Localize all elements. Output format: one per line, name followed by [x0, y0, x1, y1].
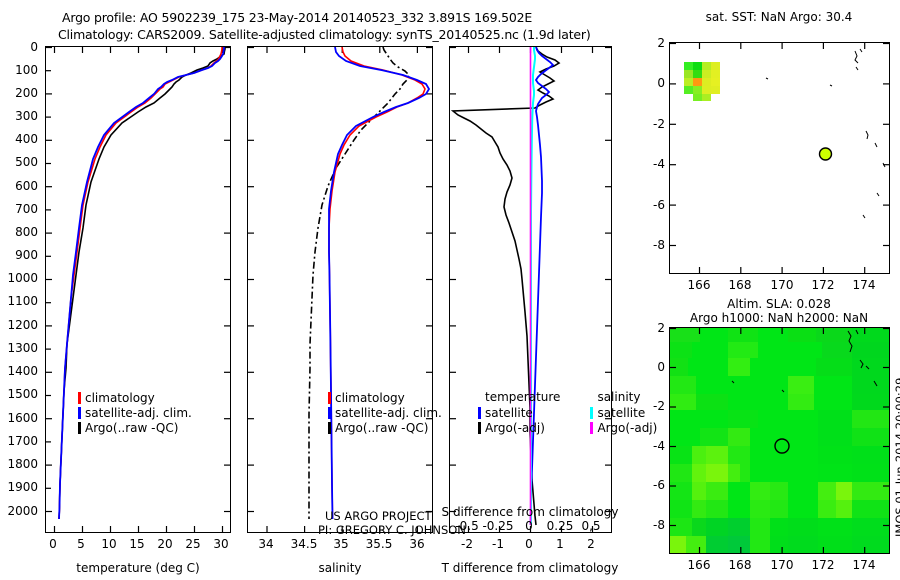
temp-xtick-20: 20 [157, 537, 172, 551]
temperature-axis-label: temperature (deg C) [76, 561, 199, 575]
legend-swatch-satellite-adj [78, 407, 81, 419]
temp-curve-satellite-adj [59, 47, 224, 519]
sla-ytick-neg4: -4 [639, 439, 665, 453]
tdiff-xtick-1: 1 [556, 537, 564, 551]
depth-tick-600: 600 [0, 179, 38, 193]
sst-ytick-neg8: -8 [639, 238, 665, 252]
temperature-plot-area [46, 47, 230, 532]
depth-tick-1000: 1000 [0, 271, 38, 285]
depth-tick-1900: 1900 [0, 480, 38, 494]
temp-xtick-15: 15 [129, 537, 144, 551]
legend-label-temp-argo: Argo(-adj) [485, 421, 545, 435]
sdiff-xtick-neg0_25: -0.25 [482, 519, 513, 533]
argo-position-marker [820, 148, 832, 160]
sst-ytick-2: 2 [645, 36, 665, 50]
depth-tick-1400: 1400 [0, 364, 38, 378]
sla-ytick-2: 2 [645, 321, 665, 335]
sdiff-xtick-0_25: 0.25 [547, 519, 574, 533]
legend-swatch-satellite-adj-sal [328, 407, 331, 419]
salinity-plot-area [248, 47, 432, 532]
sla-ytick-neg8: -8 [639, 518, 665, 532]
depth-tick-1600: 1600 [0, 411, 38, 425]
tdiff-xtick-0: 0 [525, 537, 533, 551]
sla-ytick-0: 0 [645, 360, 665, 374]
sla-map-area [670, 328, 889, 553]
sst-ytick-0: 0 [645, 76, 665, 90]
depth-tick-900: 900 [0, 248, 38, 262]
sla-field-pixels [670, 328, 889, 553]
salinity-xtick-35: 35 [333, 537, 348, 551]
sst-ytick-neg6: -6 [639, 198, 665, 212]
sla-xtick-174: 174 [853, 558, 876, 572]
legend-swatch-temp-argo [478, 422, 481, 434]
depth-tick-800: 800 [0, 225, 38, 239]
legend-label-satellite-adj-sal: satellite-adj. clim. [335, 406, 442, 420]
legend-item-argo-raw-sal: Argo(..raw -QC) [328, 420, 442, 435]
temperature-panel [45, 46, 231, 533]
legend-item-temp-argo: Argo(-adj) [478, 420, 560, 435]
sal-curve-satellite-adj [329, 47, 429, 519]
legend-item-climatology: climatology [78, 390, 192, 405]
sdiff-xtick-0: 0 [525, 519, 533, 533]
legend-swatch-temp-satellite [478, 407, 481, 419]
salinity-legend: climatology satellite-adj. clim. Argo(..… [328, 390, 442, 435]
sst-map-title: sat. SST: NaN Argo: 30.4 [706, 10, 853, 24]
legend-label-temp-satellite: satellite [485, 406, 533, 420]
legend-swatch-climatology [78, 392, 81, 404]
tdiff-axis-label: T difference from climatology [442, 561, 619, 575]
sst-xtick-174: 174 [853, 278, 876, 292]
salinity-xtick-34_5: 34.5 [291, 537, 318, 551]
diff-curve-temp-satellite [531, 47, 553, 525]
sla-map-title-line1: Altim. SLA: 0.028 [727, 297, 831, 311]
sla-xtick-166: 166 [688, 558, 711, 572]
sla-ytick-neg2: -2 [639, 399, 665, 413]
depth-tick-1300: 1300 [0, 341, 38, 355]
legend-label-sal-argo: Argo(-adj) [597, 421, 657, 435]
legend-item-climatology-sal: climatology [328, 390, 442, 405]
sla-xtick-168: 168 [729, 558, 752, 572]
sst-ytick-neg4: -4 [639, 157, 665, 171]
depth-tick-200: 200 [0, 86, 38, 100]
sal-curve-argo-raw [309, 47, 409, 519]
depth-tick-400: 400 [0, 132, 38, 146]
temp-curve-argo-raw [59, 47, 225, 519]
salinity-xtick-34: 34 [258, 537, 273, 551]
legend-label-argo-raw-sal: Argo(..raw -QC) [335, 421, 428, 435]
temperature-legend: climatology satellite-adj. clim. Argo(..… [78, 390, 192, 435]
imos-timestamp: IMOS 01-Jun-2014 20:00:29 [893, 378, 900, 537]
legend-swatch-sal-argo [590, 422, 593, 434]
sdiff-xtick-neg0_5: -0.5 [455, 519, 478, 533]
legend-swatch-argo-raw-sal [328, 422, 331, 434]
depth-tick-0: 0 [8, 40, 38, 54]
tdiff-xtick-neg2: -2 [461, 537, 473, 551]
depth-tick-1700: 1700 [0, 434, 38, 448]
sdiff-xtick-0_5: 0,5 [581, 519, 600, 533]
sst-xtick-168: 168 [729, 278, 752, 292]
sst-xtick-170: 170 [771, 278, 794, 292]
depth-tick-100: 100 [0, 63, 38, 77]
salinity-xtick-35_5: 35.5 [366, 537, 393, 551]
tdiff-xtick-neg1: -1 [492, 537, 504, 551]
diff-curve-temp-argo [453, 47, 559, 525]
difference-legend-col-temperature: temperature satellite Argo(-adj) [478, 390, 560, 435]
temp-xtick-10: 10 [101, 537, 116, 551]
salinity-panel [247, 46, 433, 533]
legend-item-satellite-adj: satellite-adj. clim. [78, 405, 192, 420]
temp-xtick-25: 25 [185, 537, 200, 551]
sst-field-pixels [684, 62, 720, 101]
legend-label-climatology-sal: climatology [335, 391, 405, 405]
temp-xtick-5: 5 [77, 537, 85, 551]
salinity-xtick-36: 36 [409, 537, 424, 551]
sal-curve-climatology [329, 47, 425, 519]
coastline [766, 49, 885, 218]
depth-tick-1200: 1200 [0, 318, 38, 332]
temp-curve-climatology [59, 47, 222, 519]
legend-item-satellite-adj-sal: satellite-adj. clim. [328, 405, 442, 420]
sla-ytick-neg6: -6 [639, 478, 665, 492]
depth-tick-500: 500 [0, 155, 38, 169]
tdiff-xtick-2: 2 [587, 537, 595, 551]
sst-map-panel [669, 42, 890, 274]
figure-title-line1: Argo profile: AO 5902239_175 23-May-2014… [62, 10, 532, 25]
pi-credit: PI: GREGORY C. JOHNSON [318, 523, 466, 537]
legend-swatch-sal-satellite [590, 407, 593, 419]
sla-xtick-172: 172 [812, 558, 835, 572]
legend-label-argo-raw: Argo(..raw -QC) [85, 421, 178, 435]
depth-tick-1100: 1100 [0, 294, 38, 308]
legend-label-climatology: climatology [85, 391, 155, 405]
sst-xtick-166: 166 [688, 278, 711, 292]
temp-xtick-30: 30 [213, 537, 228, 551]
sdiff-axis-label: S difference from climatology [442, 505, 619, 519]
depth-tick-300: 300 [0, 109, 38, 123]
sla-xtick-170: 170 [771, 558, 794, 572]
sst-map-area [670, 43, 889, 273]
depth-tick-2000: 2000 [0, 504, 38, 518]
temp-xtick-0: 0 [49, 537, 57, 551]
depth-tick-700: 700 [0, 202, 38, 216]
figure-title-line2: Climatology: CARS2009. Satellite-adjuste… [58, 27, 591, 42]
legend-label-satellite-adj: satellite-adj. clim. [85, 406, 192, 420]
difference-plot-area [450, 47, 611, 532]
legend-item-argo-raw: Argo(..raw -QC) [78, 420, 192, 435]
sst-xtick-172: 172 [812, 278, 835, 292]
sla-map-panel [669, 327, 890, 554]
depth-tick-1500: 1500 [0, 387, 38, 401]
us-argo-project-credit: US ARGO PROJECT [325, 509, 432, 523]
legend-item-temp-satellite: satellite [478, 405, 560, 420]
legend-item-sal-argo: Argo(-adj) [590, 420, 657, 435]
sst-ytick-neg2: -2 [639, 117, 665, 131]
legend-swatch-climatology-sal [328, 392, 331, 404]
legend-header-temperature: temperature [478, 390, 560, 405]
depth-tick-1800: 1800 [0, 457, 38, 471]
legend-swatch-argo-raw [78, 422, 81, 434]
sla-map-title-line2: Argo h1000: NaN h2000: NaN [690, 311, 868, 325]
salinity-axis-label: salinity [318, 561, 361, 575]
difference-panel [449, 46, 612, 533]
difference-legend: temperature satellite Argo(-adj) salinit… [478, 390, 657, 435]
